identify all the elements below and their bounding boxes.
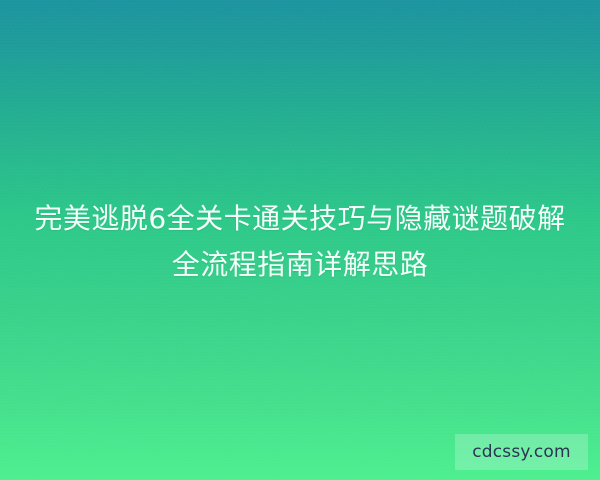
watermark-badge: cdcssy.com	[455, 434, 588, 470]
page-title: 完美逃脱6全关卡通关技巧与隐藏谜题破解全流程指南详解思路	[28, 196, 572, 288]
watermark-label: cdcssy.com	[472, 444, 571, 461]
title-block: 完美逃脱6全关卡通关技巧与隐藏谜题破解全流程指南详解思路	[0, 196, 600, 288]
banner-image: 完美逃脱6全关卡通关技巧与隐藏谜题破解全流程指南详解思路 cdcssy.com	[0, 0, 600, 480]
